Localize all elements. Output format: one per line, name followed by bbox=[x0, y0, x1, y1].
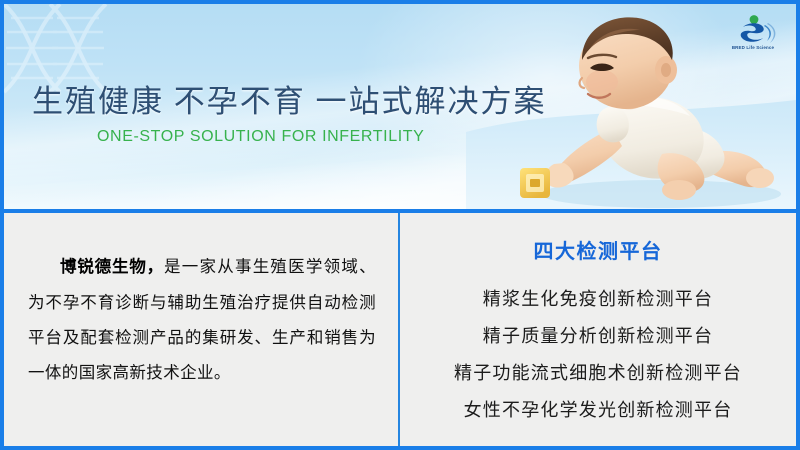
logo-text: BRED Life Science bbox=[722, 45, 784, 50]
yellow-toy-block bbox=[520, 168, 550, 198]
headline: 生殖健康 不孕不育 一站式解决方案 bbox=[32, 76, 547, 121]
list-item: 精浆生化免疫创新检测平台 bbox=[400, 281, 796, 318]
subheadline: ONE-STOP SOLUTION FOR INFERTILITY bbox=[97, 128, 424, 146]
platforms-list: 精浆生化免疫创新检测平台 精子质量分析创新检测平台 精子功能流式细胞术创新检测平… bbox=[400, 281, 796, 429]
list-item: 精子质量分析创新检测平台 bbox=[400, 318, 796, 355]
bred-swoosh-logo-icon bbox=[722, 14, 784, 44]
brand-logo[interactable]: BRED Life Science bbox=[722, 14, 784, 58]
platforms-panel: 四大检测平台 精浆生化免疫创新检测平台 精子质量分析创新检测平台 精子功能流式细… bbox=[400, 213, 796, 446]
platforms-title: 四大检测平台 bbox=[400, 235, 796, 264]
hero-banner: 生殖健康 不孕不育 一站式解决方案 ONE-STOP SOLUTION FOR … bbox=[4, 4, 796, 209]
about-paragraph: 博锐德生物，是一家从事生殖医学领域、为不孕不育诊断与辅助生殖治疗提供自动检测平台… bbox=[28, 249, 376, 390]
list-item: 精子功能流式细胞术创新检测平台 bbox=[400, 355, 796, 392]
about-panel: 博锐德生物，是一家从事生殖医学领域、为不孕不育诊断与辅助生殖治疗提供自动检测平台… bbox=[4, 213, 398, 446]
slide-root: 生殖健康 不孕不育 一站式解决方案 ONE-STOP SOLUTION FOR … bbox=[0, 0, 800, 450]
list-item: 女性不孕化学发光创新检测平台 bbox=[400, 392, 796, 429]
company-name: 博锐德生物， bbox=[60, 258, 164, 276]
content-row: 博锐德生物，是一家从事生殖医学领域、为不孕不育诊断与辅助生殖治疗提供自动检测平台… bbox=[4, 213, 796, 446]
